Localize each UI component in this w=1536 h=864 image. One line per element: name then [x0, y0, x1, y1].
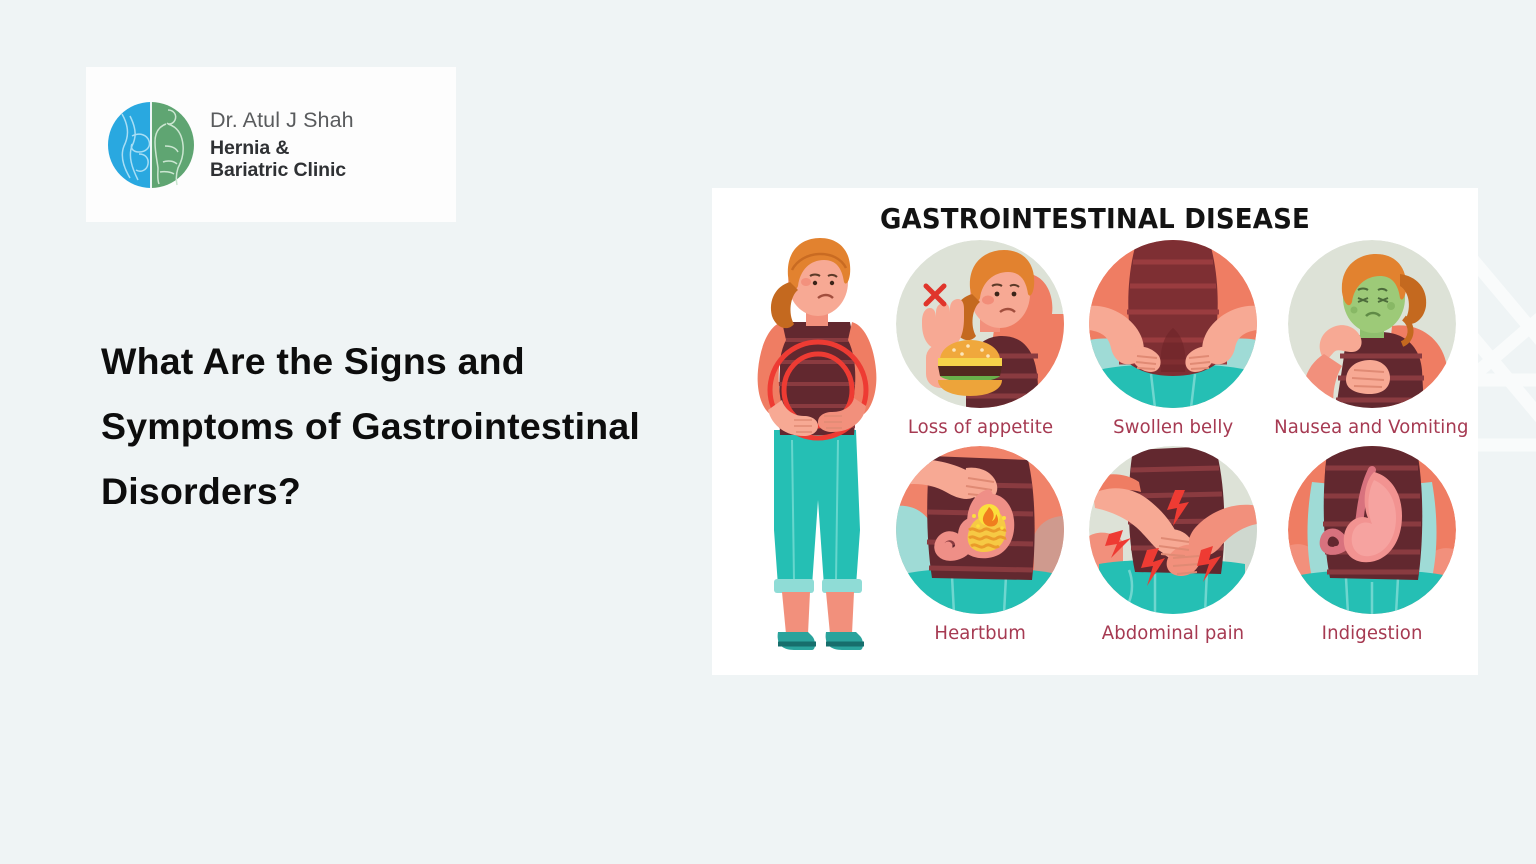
symptom-item[interactable]: Loss of appetite — [884, 240, 1077, 438]
page-title: What Are the Signs and Symptoms of Gastr… — [101, 329, 701, 524]
symptom-label: Abdominal pain — [1102, 622, 1244, 644]
symptom-label: Swollen belly — [1113, 416, 1233, 438]
infographic-card: GASTROINTESTINAL DISEASE — [712, 188, 1478, 675]
woman-refusing-burger-icon — [896, 240, 1064, 408]
clinic-name-line1: Hernia & — [210, 137, 354, 160]
green-faced-woman-nausea-icon — [1288, 240, 1456, 408]
symptom-item[interactable]: Heartbum — [884, 446, 1077, 644]
woman-holding-stomach-illustration — [732, 230, 897, 660]
pink-stomach-outline-icon — [1288, 446, 1456, 614]
stomach-acid-flame-icon — [896, 446, 1064, 614]
clinic-logo: Dr. Atul J Shah Hernia & Bariatric Clini… — [86, 67, 456, 222]
symptom-label: Heartbum — [935, 622, 1026, 644]
symptom-label: Indigestion — [1321, 622, 1422, 644]
symptom-item[interactable]: Indigestion — [1269, 446, 1474, 644]
bloated-abdomen-hands-icon — [1089, 240, 1257, 408]
clinic-name-line2: Bariatric Clinic — [210, 159, 354, 182]
symptom-item[interactable]: Abdominal pain — [1077, 446, 1270, 644]
symptom-label: Nausea and Vomiting — [1274, 416, 1468, 438]
symptom-item[interactable]: Swollen belly — [1077, 240, 1270, 438]
symptom-label: Loss of appetite — [908, 416, 1053, 438]
clinic-logo-text: Dr. Atul J Shah Hernia & Bariatric Clini… — [210, 107, 354, 182]
doctor-name: Dr. Atul J Shah — [210, 107, 354, 134]
clinic-emblem-icon — [108, 102, 194, 188]
clutching-belly-lightning-pain-icon — [1089, 446, 1257, 614]
symptom-grid: Loss of appetite — [884, 240, 1474, 644]
symptom-item[interactable]: Nausea and Vomiting — [1269, 240, 1474, 438]
